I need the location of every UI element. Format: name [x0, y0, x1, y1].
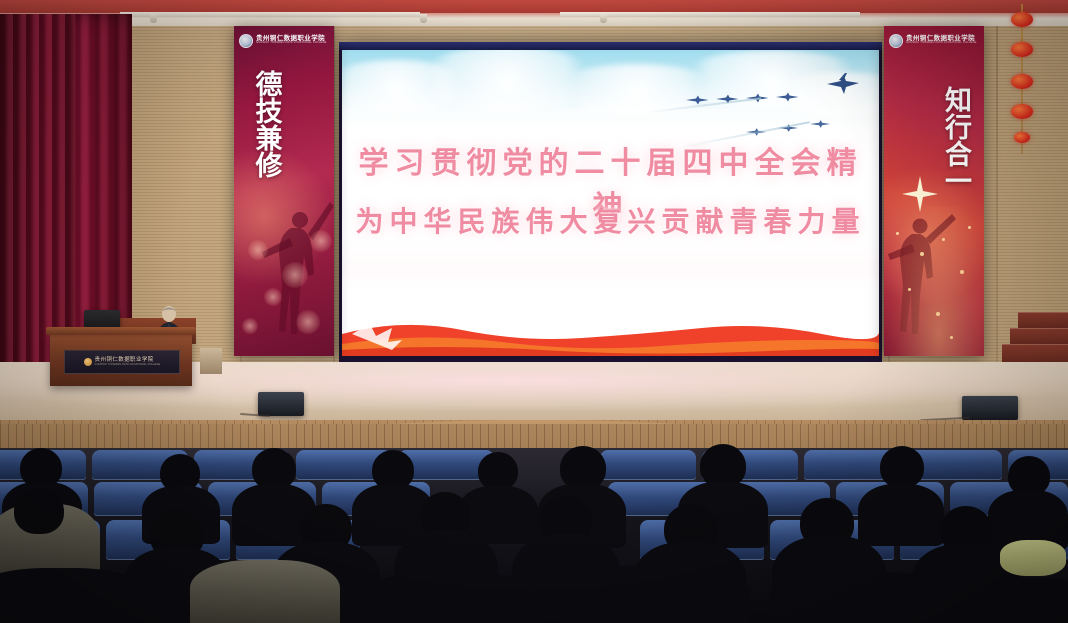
- audience-member: [478, 452, 518, 490]
- audience-member: [0, 568, 150, 623]
- school-emblem-icon: [84, 358, 92, 366]
- stage-step: [1002, 344, 1068, 362]
- lantern-icon: [1011, 42, 1033, 57]
- led-bezel: [339, 42, 882, 50]
- side-table: [200, 348, 222, 374]
- banner-left-slogan: 德技兼修: [248, 70, 284, 178]
- ceiling-light-icon: [150, 14, 157, 23]
- lantern-icon: [1011, 12, 1033, 27]
- banner-left: 贵州铜仁数据职业学院 GUIZHOU TONGREN DATA VOCATION…: [234, 26, 334, 356]
- led-screen: 学习贯彻党的二十届四中全会精神 为中华民族伟大复兴贡献青春力量: [339, 42, 882, 362]
- audience-bag: [1000, 540, 1066, 576]
- audience-member: [858, 484, 944, 546]
- lantern-string: [1002, 4, 1042, 154]
- audience-member: [190, 560, 340, 623]
- bokeh-light-icon: [310, 230, 332, 252]
- led-slogan-line-2: 为中华民族伟大复兴贡献青春力量: [342, 200, 879, 240]
- lantern-icon: [1011, 74, 1033, 89]
- podium-nameplate: 贵州铜仁数据职业学院 GUIZHOU TONGREN DATA VOCATION…: [64, 350, 180, 374]
- bokeh-light-icon: [264, 288, 282, 306]
- stage-step: [1010, 328, 1068, 344]
- audience-area: [0, 448, 1068, 623]
- stage-step: [1018, 312, 1068, 328]
- banner-right-logo: 贵州铜仁数据职业学院 GUIZHOU TONGREN DATA VOCATION…: [889, 32, 979, 49]
- bokeh-light-icon: [242, 318, 258, 334]
- bokeh-light-icon: [296, 310, 320, 334]
- banner-right-slogan: 知行合一: [938, 86, 974, 194]
- gold-glitter-icon: [884, 206, 984, 356]
- bokeh-light-icon: [282, 262, 308, 288]
- lantern-icon: [1014, 132, 1030, 143]
- school-emblem-icon: [239, 34, 253, 48]
- banner-left-logo: 贵州铜仁数据职业学院 GUIZHOU TONGREN DATA VOCATION…: [239, 32, 329, 49]
- banner-left-logo-en: GUIZHOU TONGREN DATA VOCATIONAL COLLEGE: [256, 42, 327, 45]
- stage-wedge-monitor: [962, 396, 1018, 420]
- audience-member: [960, 578, 1068, 623]
- audience-member: [770, 572, 960, 623]
- ceiling-light-icon: [420, 14, 427, 23]
- red-wave-icon: [342, 304, 879, 356]
- ceiling-track: [120, 12, 420, 17]
- stage-wedge-monitor: [258, 392, 304, 416]
- led-display: 学习贯彻党的二十届四中全会精神 为中华民族伟大复兴贡献青春力量: [342, 50, 879, 356]
- lantern-icon: [1011, 104, 1033, 119]
- audience-member: [560, 566, 750, 623]
- banner-right-logo-en: GUIZHOU TONGREN DATA VOCATIONAL COLLEGE: [906, 42, 977, 45]
- banner-right: 贵州铜仁数据职业学院 GUIZHOU TONGREN DATA VOCATION…: [884, 26, 984, 356]
- bokeh-light-icon: [248, 240, 268, 260]
- jet-small-icon: [742, 118, 852, 138]
- audience-member: [14, 488, 64, 534]
- podium-top: [46, 327, 196, 335]
- ceiling-light-icon: [600, 14, 607, 23]
- podium-nameplate-en: GUIZHOU TONGREN DATA VOCATIONAL COLLEGE: [95, 364, 161, 366]
- auditorium-seat: [600, 450, 696, 480]
- audience-member: [880, 446, 924, 488]
- school-emblem-icon: [889, 34, 903, 48]
- audience-member: [360, 572, 540, 623]
- auditorium-photo: 学习贯彻党的二十届四中全会精神 为中华民族伟大复兴贡献青春力量 贵州铜仁数据职业…: [0, 0, 1068, 623]
- podium: 贵州铜仁数据职业学院 GUIZHOU TONGREN DATA VOCATION…: [50, 332, 192, 386]
